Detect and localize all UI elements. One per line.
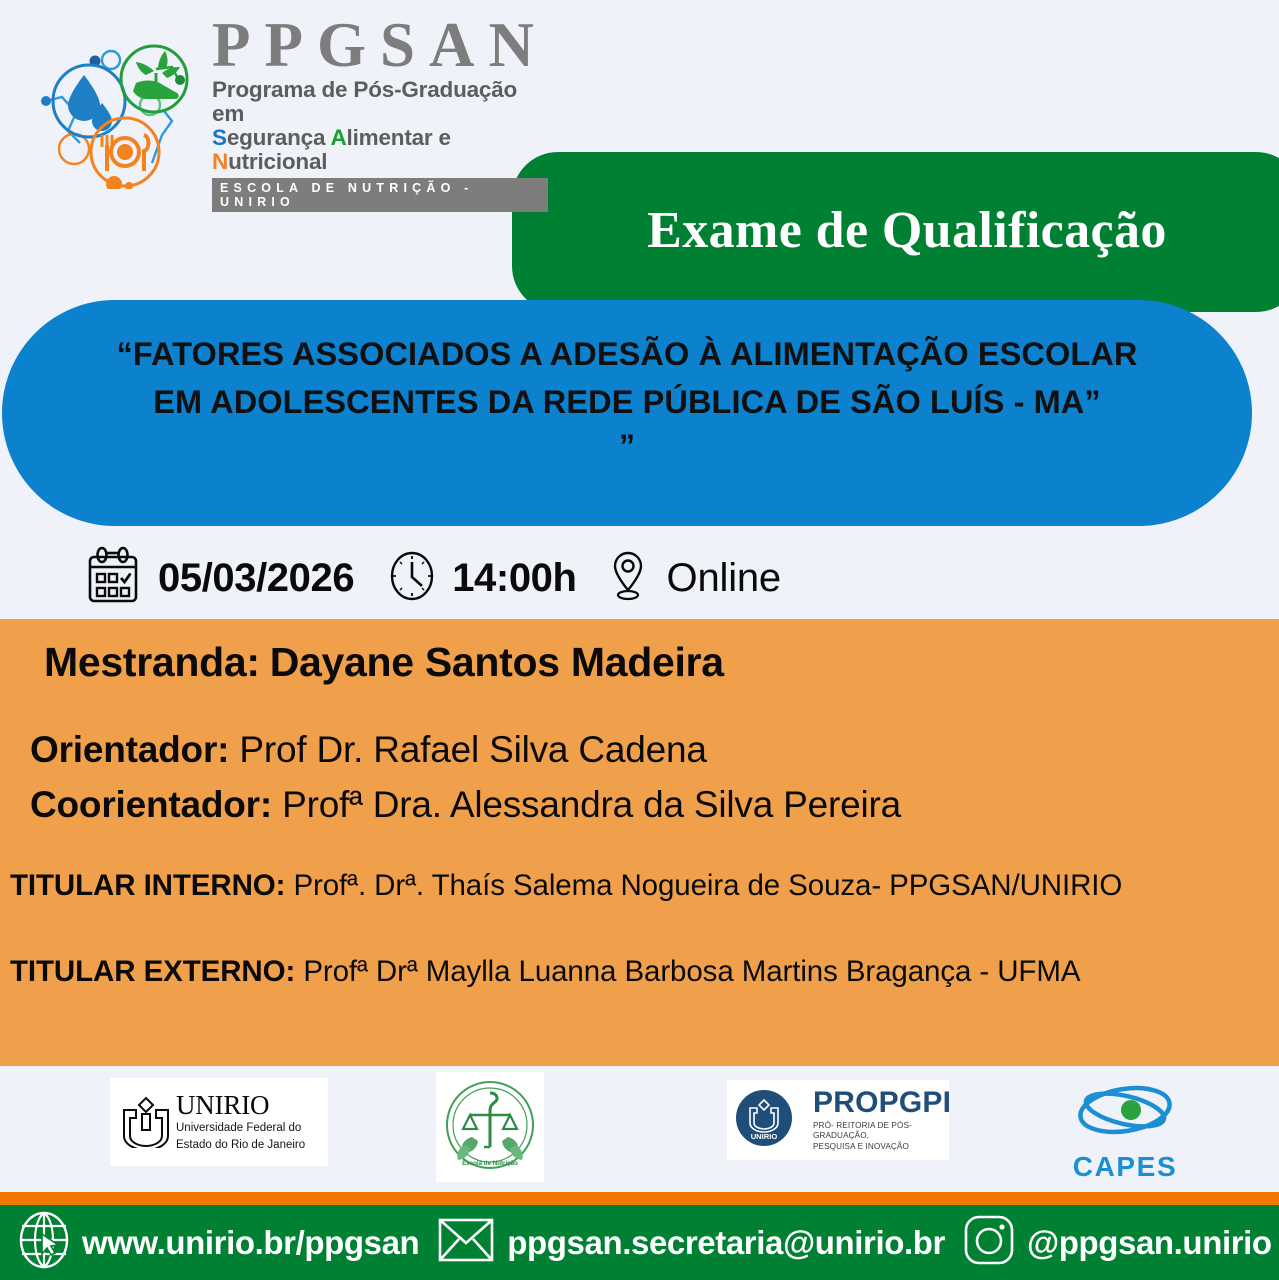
propgpi-text-block: PROPGPI PRÓ- REITORIA DE PÓS-GRADUAÇÃO, … [813,1088,951,1153]
ppgsan-s: S [212,125,227,150]
propgpi-sub-line1: PRÓ- REITORIA DE PÓS-GRADUAÇÃO, [813,1121,951,1142]
thesis-title-banner: “FATORES ASSOCIADOS A ADESÃO À ALIMENTAÇ… [2,300,1252,526]
capes-mark-icon [1065,1135,1185,1152]
exam-type-title: Exame de Qualificação [647,201,1167,264]
clock-icon [384,548,440,609]
orientador-row: Orientador: Prof Dr. Rafael Silva Cadena [30,729,707,771]
mestranda-name: Dayane Santos Madeira [270,639,724,685]
orange-divider-stripe [0,1192,1279,1205]
ppgsan-school-strip: ESCOLA DE NUTRIÇÃO - UNIRIO [212,178,548,212]
thesis-title-trailing-quote: ” [74,426,1180,468]
footer-website[interactable]: www.unirio.br/ppgsan [16,1210,419,1275]
ppgsan-a: A [330,125,346,150]
unirio-text-block: UNIRIO Universidade Federal do Estado do… [176,1092,305,1152]
propgpi-sub-line2: PESQUISA E INOVAÇÃO [813,1142,951,1153]
capes-logo: CAPES [1060,1074,1190,1182]
thesis-title-line2: EM ADOLESCENTES DA REDE PÚBLICA DE SÃO L… [74,378,1180,426]
footer-email-text: ppgsan.secretaria@unirio.br [507,1224,945,1262]
footer-instagram[interactable]: @ppgsan.unirio [961,1212,1272,1273]
ppgsan-utricional: utricional [228,149,327,174]
unirio-logo: UNIRIO Universidade Federal do Estado do… [110,1078,328,1166]
event-date: 05/03/2026 [82,545,354,612]
unirio-tagline-line1: Universidade Federal do [176,1121,305,1135]
ppgsan-n: N [212,149,228,174]
coorientador-label: Coorientador: [30,784,272,825]
ppgsan-acronym: PPGSAN [212,16,548,76]
thesis-title-line1: “FATORES ASSOCIADOS A ADESÃO À ALIMENTAÇ… [74,330,1180,378]
orientador-name: Prof Dr. Rafael Silva Cadena [239,729,706,770]
svg-text:UNIRIO: UNIRIO [751,1132,778,1141]
ppgsan-logo-wordmark: PPGSAN Programa de Pós-Graduação em Segu… [208,16,548,211]
exam-type-banner: Exame de Qualificação [512,152,1279,312]
people-section: Mestranda:Dayane Santos Madeira Orientad… [0,619,1279,1066]
titular-interno-name: Profª. Drª. Thaís Salema Nogueira de Sou… [293,869,1122,902]
propgpi-logo: UNIRIO PROPGPI PRÓ- REITORIA DE PÓS-GRAD… [727,1080,949,1160]
ppgsan-logo-icons [32,39,202,189]
mestranda-label: Mestranda: [44,639,260,685]
event-location: Online [605,548,781,609]
footer-instagram-text: @ppgsan.unirio [1027,1224,1272,1262]
titular-externo-label: TITULAR EXTERNO: [10,955,295,988]
globe-icon [16,1210,72,1275]
unirio-name: UNIRIO [176,1090,269,1120]
coorientador-name: Profª Dra. Alessandra da Silva Pereira [282,784,901,825]
contact-footer: www.unirio.br/ppgsan ppgsan.secretaria@u… [0,1205,1279,1280]
mestranda-row: Mestranda:Dayane Santos Madeira [44,639,724,686]
event-details-row: 05/03/2026 14:00h [0,538,1279,618]
event-time-text: 14:00h [452,556,576,601]
titular-externo-row: TITULAR EXTERNO: Profª Drª Maylla Luanna… [10,955,1080,989]
ppgsan-logo: PPGSAN Programa de Pós-Graduação em Segu… [32,38,542,190]
titular-interno-label: TITULAR INTERNO: [10,869,285,902]
titular-externo-name: Profª Drª Maylla Luanna Barbosa Martins … [303,955,1080,988]
event-location-text: Online [667,556,781,601]
unirio-mark-icon [118,1096,174,1148]
sponsor-logos: UNIRIO Universidade Federal do Estado do… [0,1066,1279,1192]
event-date-text: 05/03/2026 [158,556,354,601]
propgpi-name: PROPGPI [813,1088,951,1118]
footer-email[interactable]: ppgsan.secretaria@unirio.br [435,1212,945,1273]
svg-text:Escola de Nutrição: Escola de Nutrição [462,1160,518,1167]
map-pin-icon [605,548,651,609]
footer-website-text: www.unirio.br/ppgsan [82,1224,419,1262]
orientador-label: Orientador: [30,729,229,770]
escola-nutricao-logo: Escola de Nutrição [436,1072,544,1182]
poster-root: PPGSAN Programa de Pós-Graduação em Segu… [0,0,1279,1280]
envelope-icon [435,1212,497,1273]
capes-name: CAPES [1060,1151,1190,1183]
unirio-tagline-line2: Estado do Rio de Janeiro [176,1138,305,1152]
titular-interno-row: TITULAR INTERNO: Profª. Drª. Thaís Salem… [10,869,1122,903]
escola-nutricao-seal-icon: Escola de Nutrição [440,1075,540,1180]
propgpi-unirio-badge-icon: UNIRIO [735,1089,793,1152]
coorientador-row: Coorientador: Profª Dra. Alessandra da S… [30,784,901,826]
event-time: 14:00h [384,548,576,609]
calendar-icon [82,545,144,612]
instagram-icon [961,1212,1017,1273]
ppgsan-eguranca: egurança [227,125,331,150]
ppgsan-subtitle-line2: Segurança Alimentar e Nutricional [212,126,548,174]
ppgsan-subtitle-line1: Programa de Pós-Graduação em [212,78,548,126]
ppgsan-limentar: limentar e [347,125,451,150]
